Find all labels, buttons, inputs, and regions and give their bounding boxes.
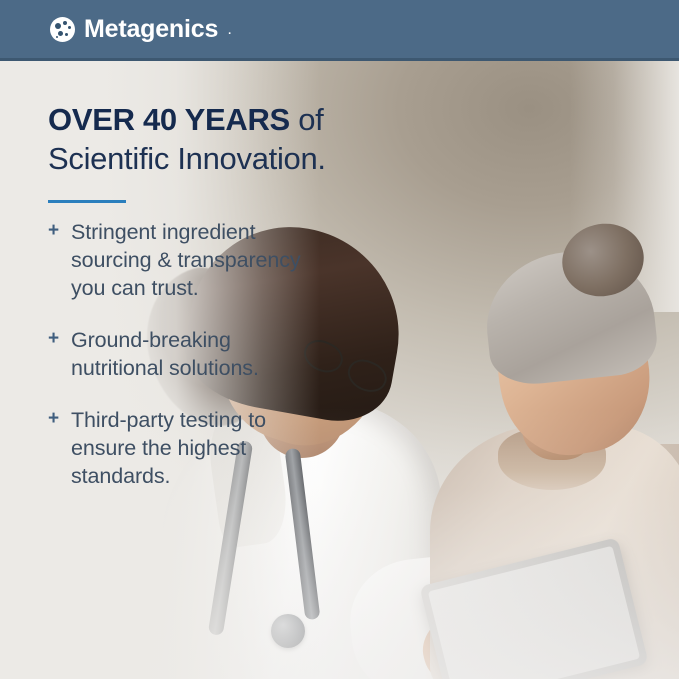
registered-trademark-mark: · xyxy=(228,29,232,40)
headline-emphasis: OVER 40 YEARS xyxy=(48,102,290,137)
list-item: + Third-party testing to ensure the high… xyxy=(48,407,348,491)
accent-divider xyxy=(48,200,126,203)
brand-name: Metagenics xyxy=(84,17,218,42)
metagenics-logo-icon xyxy=(50,17,75,42)
page-title: OVER 40 YEARS of Scientific Innovation. xyxy=(48,100,348,178)
brand-lockup[interactable]: Metagenics · xyxy=(50,17,232,42)
headline-subline: Scientific Innovation. xyxy=(48,139,348,178)
benefit-list: + Stringent ingredient sourcing & transp… xyxy=(48,219,348,491)
headline-connector: of xyxy=(290,102,324,137)
list-item: + Ground-breaking nutritional solutions. xyxy=(48,327,348,383)
list-item: + Stringent ingredient sourcing & transp… xyxy=(48,219,348,303)
brand-header: Metagenics · xyxy=(0,0,679,61)
plus-icon: + xyxy=(48,407,61,491)
list-item-label: Third-party testing to ensure the highes… xyxy=(71,407,311,491)
list-item-label: Ground-breaking nutritional solutions. xyxy=(71,327,311,383)
copy-block: OVER 40 YEARS of Scientific Innovation. … xyxy=(48,100,348,515)
list-item-label: Stringent ingredient sourcing & transpar… xyxy=(71,219,311,303)
promo-card: Metagenics · OVER 40 YEARS of Scientific… xyxy=(0,0,679,679)
plus-icon: + xyxy=(48,327,61,383)
plus-icon: + xyxy=(48,219,61,303)
